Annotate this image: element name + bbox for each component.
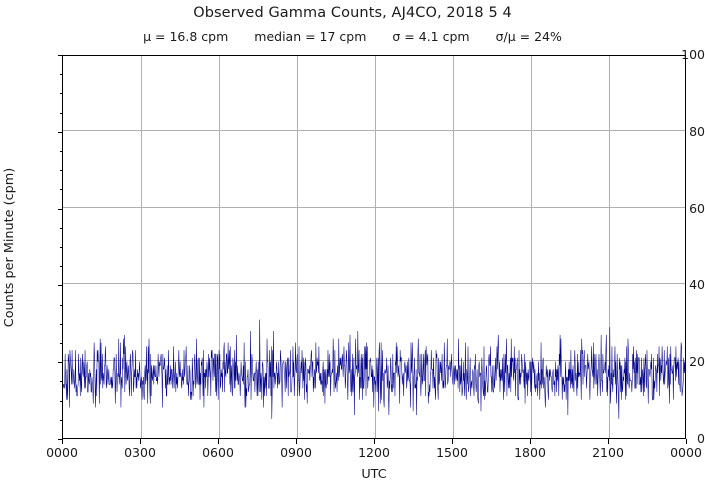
x-tick-0000 [686,439,687,444]
x-tick-0600 [218,439,219,444]
chart-title: Observed Gamma Counts, AJ4CO, 2018 5 4 [0,5,705,21]
y-tick-minor-55 [60,228,63,229]
y-tick-minor-70 [60,170,63,171]
y-tick-minor-35 [60,305,63,306]
y-tick-20 [58,362,63,363]
y-tick-minor-95 [60,74,63,75]
stat-item-2: σ = 4.1 cpm [392,29,469,44]
stat-item-0: μ = 16.8 cpm [143,29,228,44]
data-series-gamma-counts [63,56,685,438]
y-tick-40 [58,285,63,286]
x-tick-0300 [140,439,141,444]
x-tick-label-2: 0600 [183,447,253,460]
y-tick-minor-45 [60,266,63,267]
y-tick-minor-90 [60,93,63,94]
y-tick-minor-15 [60,381,63,382]
y-tick-80 [58,132,63,133]
x-tick-label-0: 0000 [27,447,97,460]
y-tick-minor-10 [60,401,63,402]
x-tick-1500 [452,439,453,444]
y-tick-minor-25 [60,343,63,344]
y-tick-minor-5 [60,420,63,421]
x-tick-label-4: 1200 [339,447,409,460]
x-tick-label-6: 1800 [495,447,565,460]
y-tick-minor-75 [60,151,63,152]
y-tick-100 [58,55,63,56]
y-tick-label-40: 40 [653,279,705,292]
y-tick-label-0: 0 [653,433,705,446]
x-tick-label-1: 0300 [105,447,175,460]
x-tick-2100 [608,439,609,444]
y-tick-label-60: 60 [653,203,705,216]
x-tick-label-5: 1500 [417,447,487,460]
chart-subtitle-stats: μ = 16.8 cpmmedian = 17 cpmσ = 4.1 cpmσ/… [0,29,705,44]
x-tick-1800 [530,439,531,444]
gamma-counts-chart-figure: Observed Gamma Counts, AJ4CO, 2018 5 4 μ… [0,0,705,489]
x-tick-label-8: 0000 [651,447,705,460]
y-tick-label-80: 80 [653,126,705,139]
y-tick-minor-65 [60,189,63,190]
x-axis-label: UTC [62,467,686,482]
x-tick-0000 [62,439,63,444]
x-tick-1200 [374,439,375,444]
x-tick-label-3: 0900 [261,447,331,460]
y-tick-label-20: 20 [653,356,705,369]
stat-item-1: median = 17 cpm [254,29,366,44]
y-tick-minor-50 [60,247,63,248]
y-tick-minor-85 [60,113,63,114]
stat-item-3: σ/μ = 24% [496,29,562,44]
y-axis-label-text: Counts per Minute (cpm) [3,167,18,326]
plot-area [62,55,686,439]
y-axis-label: Counts per Minute (cpm) [0,55,20,439]
x-tick-label-7: 2100 [573,447,643,460]
y-tick-60 [58,209,63,210]
y-tick-minor-30 [60,324,63,325]
y-tick-label-100: 100 [653,49,705,62]
x-tick-0900 [296,439,297,444]
